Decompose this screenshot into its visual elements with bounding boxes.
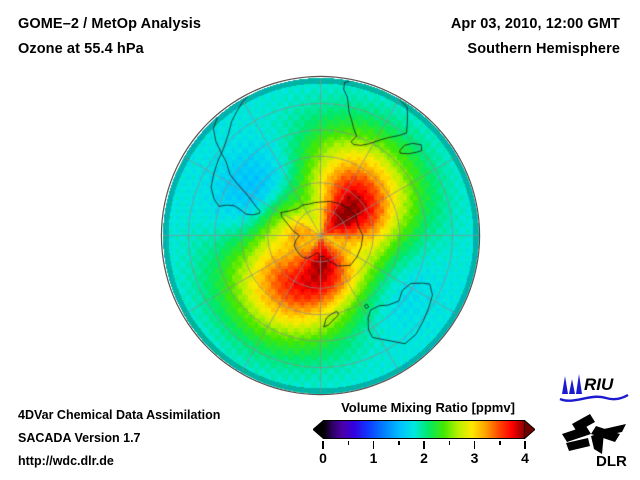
colorbar-tick-label: 1 [370, 450, 378, 466]
header-left: GOME–2 / MetOp Analysis Ozone at 55.4 hP… [18, 12, 201, 62]
ozone-analysis-figure: GOME–2 / MetOp Analysis Ozone at 55.4 hP… [0, 0, 640, 480]
dlr-logo: DLR [560, 412, 632, 468]
colorbar-gradient [323, 420, 525, 439]
hemisphere-label: Southern Hemisphere [451, 37, 620, 62]
ozone-field-canvas [162, 77, 479, 394]
colorbar-tick-label: 4 [521, 450, 529, 466]
colorbar-tick-label: 3 [471, 450, 479, 466]
instrument-title: GOME–2 / MetOp Analysis [18, 12, 201, 37]
level-title: Ozone at 55.4 hPa [18, 37, 201, 62]
colorbar-tick-label: 0 [319, 450, 327, 466]
riu-logo-text: RIU [584, 375, 614, 394]
timestamp-label: Apr 03, 2010, 12:00 GMT [451, 12, 620, 37]
version-label: SACADA Version 1.7 [18, 427, 220, 450]
colorbar-right-arrow-icon [524, 420, 535, 439]
colorbar: Volume Mixing Ratio [ppmv] 01234 [313, 400, 535, 468]
colorbar-ticks [323, 441, 525, 449]
dlr-logo-text: DLR [596, 453, 627, 468]
logo-group: RIU DLR [556, 372, 632, 470]
assimilation-label: 4DVar Chemical Data Assimilation [18, 404, 220, 427]
colorbar-title: Volume Mixing Ratio [ppmv] [321, 400, 535, 415]
header-right: Apr 03, 2010, 12:00 GMT Southern Hemisph… [451, 12, 620, 62]
globe-map [162, 77, 479, 394]
colorbar-bar-row [313, 419, 535, 441]
url-label[interactable]: http://wdc.dlr.de [18, 450, 220, 473]
colorbar-tick-labels: 01234 [323, 450, 525, 468]
colorbar-tick-label: 2 [420, 450, 428, 466]
globe-disc [162, 77, 479, 394]
riu-logo: RIU [556, 372, 632, 406]
footer-text: 4DVar Chemical Data Assimilation SACADA … [18, 404, 220, 473]
